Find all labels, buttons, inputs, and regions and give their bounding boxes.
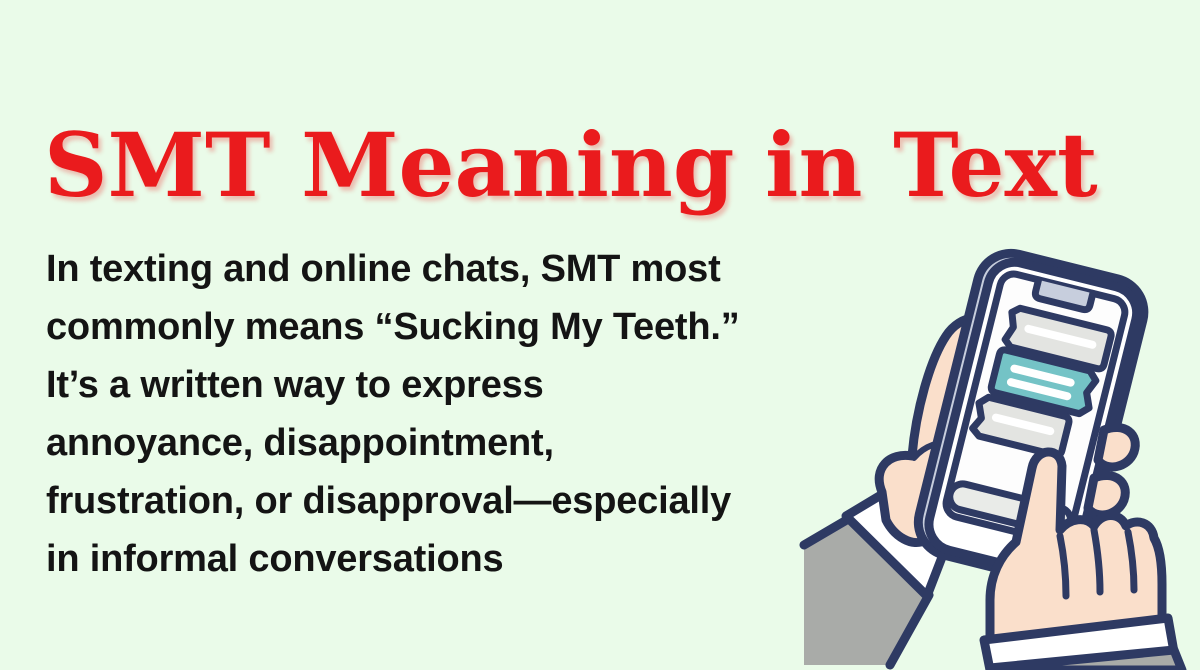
description-text: In texting and online chats, SMT most co… [46, 240, 806, 588]
description-line: It’s a written way to express [46, 356, 806, 414]
description-line: In texting and online chats, SMT most [46, 240, 806, 298]
page-title: SMT Meaning in Text [44, 121, 1098, 209]
description-line: annoyance, disappointment, [46, 414, 806, 472]
description-line: commonly means “Sucking My Teeth.” [46, 298, 806, 356]
description-line: in informal conversations [46, 530, 806, 588]
hands-holding-smartphone-illustration [794, 200, 1194, 670]
infographic-canvas: SMT Meaning in Text In texting and onlin… [0, 0, 1200, 670]
description-line: frustration, or disapproval—especially [46, 472, 806, 530]
